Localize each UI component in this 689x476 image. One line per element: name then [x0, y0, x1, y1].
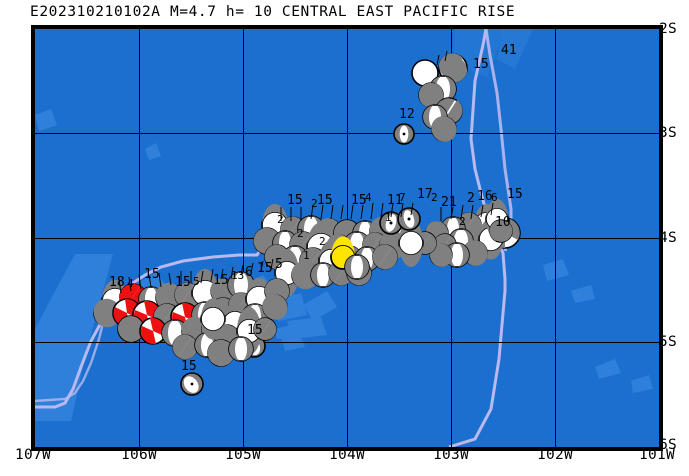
- xtick-106w: 106W: [121, 447, 157, 463]
- xtick-107w: 107W: [15, 447, 51, 463]
- beachball-group-east: [414, 199, 513, 267]
- ytick-4s: 4S: [659, 230, 677, 246]
- xtick-102w: 102W: [537, 447, 573, 463]
- map-plot-frame: 18 15 4 15 5 15 13 6 15 5 15 15 2 15 4 1…: [31, 25, 663, 451]
- page-title: E202310210102A M=4.7 h= 10 CENTRAL EAST …: [30, 4, 515, 20]
- ytick-5s: 5S: [659, 334, 677, 350]
- xtick-103w: 103W: [433, 447, 469, 463]
- xtick-104w: 104W: [329, 447, 365, 463]
- ytick-3s: 3S: [659, 125, 677, 141]
- focal-mechanism-layer: [35, 29, 659, 447]
- ytick-2s: 2S: [659, 21, 677, 37]
- ytick-6s: 6S: [659, 437, 677, 453]
- beachball-event-12: [394, 124, 414, 144]
- beachball-bottom-far-left: [181, 373, 203, 396]
- map-canvas: 18 15 4 15 5 15 13 6 15 5 15 15 2 15 4 1…: [35, 29, 659, 447]
- xtick-105w: 105W: [225, 447, 261, 463]
- beachball-group-north: [412, 53, 467, 141]
- seismicity-map: E202310210102A M=4.7 h= 10 CENTRAL EAST …: [0, 0, 689, 476]
